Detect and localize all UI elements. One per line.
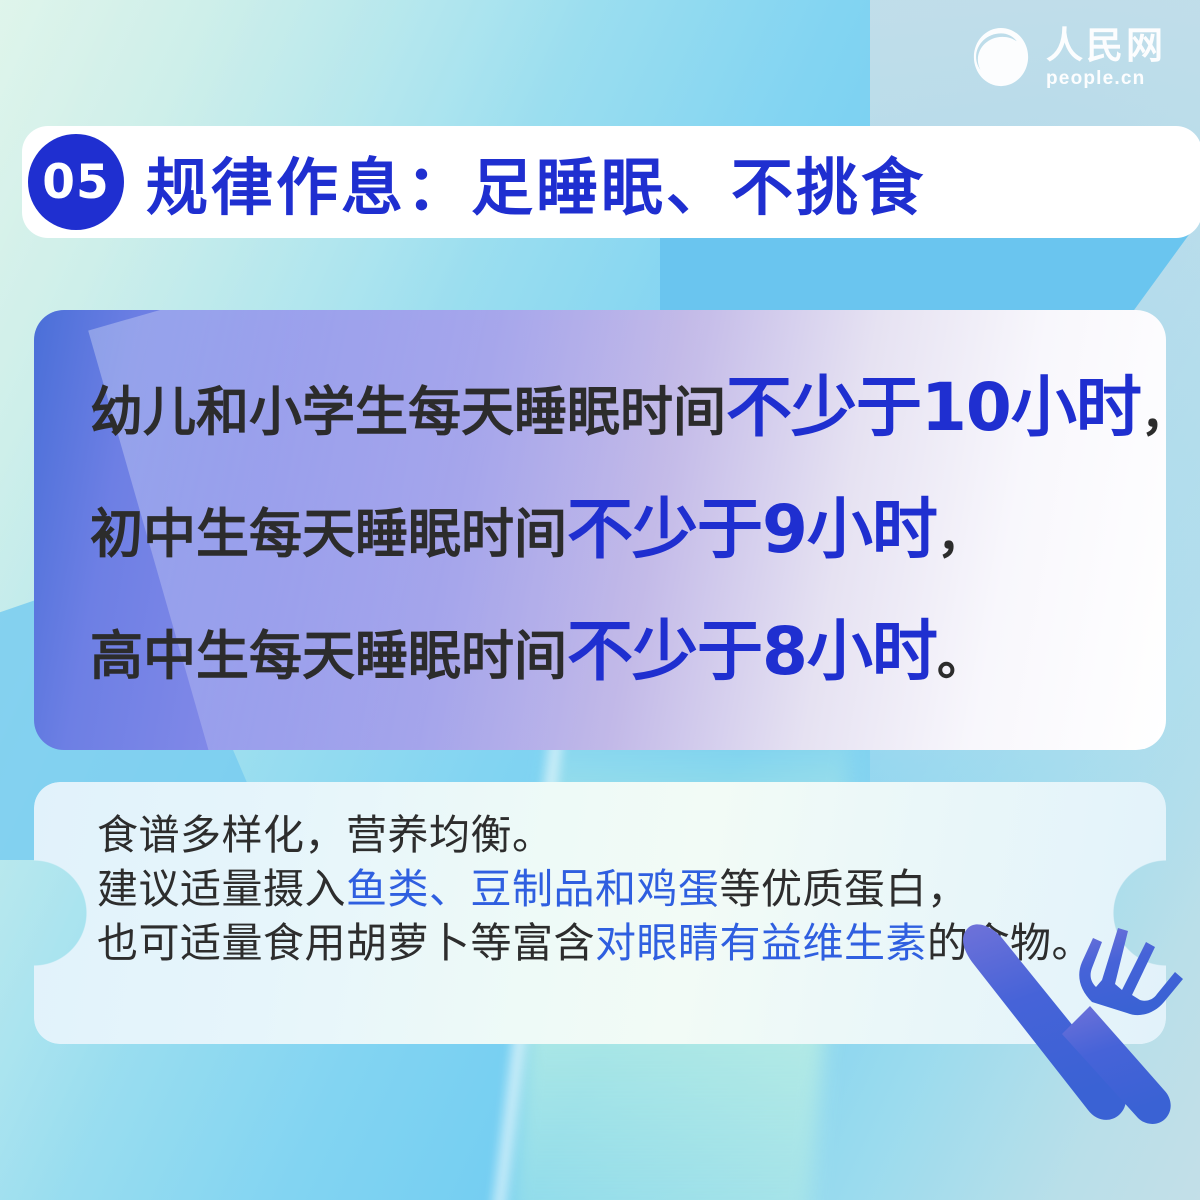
nutrition-line-3-a: 也可适量食用胡萝卜等富含: [97, 919, 595, 967]
section-number-badge: 05: [28, 134, 124, 230]
section-title: 规律作息：足睡眠、不挑食: [146, 137, 926, 227]
poster-canvas: 人民网 people.cn 05 规律作息：足睡眠、不挑食 幼儿和小学生每天睡眠…: [0, 0, 1200, 1200]
brand-name-cn: 人民网: [1046, 27, 1166, 64]
people-cn-globe-icon: [970, 26, 1032, 88]
brand-name-en: people.cn: [1046, 69, 1145, 88]
sleep-line-2-highlight: 不少于9小时: [567, 491, 937, 568]
sleep-line-3-lead: 高中生每天睡眠时间: [90, 626, 567, 687]
nutrition-line-3-highlight: 对眼睛有益维生素: [595, 919, 927, 967]
sleep-line-3: 高中生每天睡眠时间不少于8小时。: [90, 594, 1166, 716]
sleep-guidance-lines: 幼儿和小学生每天睡眠时间不少于10小时， 初中生每天睡眠时间不少于9小时， 高中…: [34, 310, 1166, 750]
fork-and-knife-icon: [942, 914, 1192, 1164]
sleep-line-1: 幼儿和小学生每天睡眠时间不少于10小时，: [90, 350, 1166, 472]
nutrition-line-2: 建议适量摄入鱼类、豆制品和鸡蛋等优质蛋白，: [97, 862, 1166, 916]
sleep-line-1-lead: 幼儿和小学生每天睡眠时间: [90, 382, 726, 443]
brand-logo-text: 人民网 people.cn: [1046, 27, 1166, 88]
sleep-line-1-tail: ，: [1141, 386, 1189, 442]
nutrition-line-2-c: 等优质蛋白，: [720, 865, 969, 913]
sleep-line-2-tail: ，: [937, 508, 985, 564]
nutrition-line-2-a: 建议适量摄入: [97, 865, 346, 913]
sleep-line-3-tail: 。: [937, 630, 985, 686]
sleep-line-3-highlight: 不少于8小时: [567, 613, 937, 690]
nutrition-line-2-highlight: 鱼类、豆制品和鸡蛋: [346, 865, 720, 913]
sleep-line-2-lead: 初中生每天睡眠时间: [90, 504, 567, 565]
brand-logo: 人民网 people.cn: [970, 26, 1166, 88]
section-header-pill: 05 规律作息：足睡眠、不挑食: [22, 126, 1200, 238]
sleep-line-1-highlight: 不少于10小时: [726, 369, 1141, 446]
nutrition-line-1: 食谱多样化，营养均衡。: [97, 808, 1166, 862]
sleep-line-2: 初中生每天睡眠时间不少于9小时，: [90, 472, 1166, 594]
